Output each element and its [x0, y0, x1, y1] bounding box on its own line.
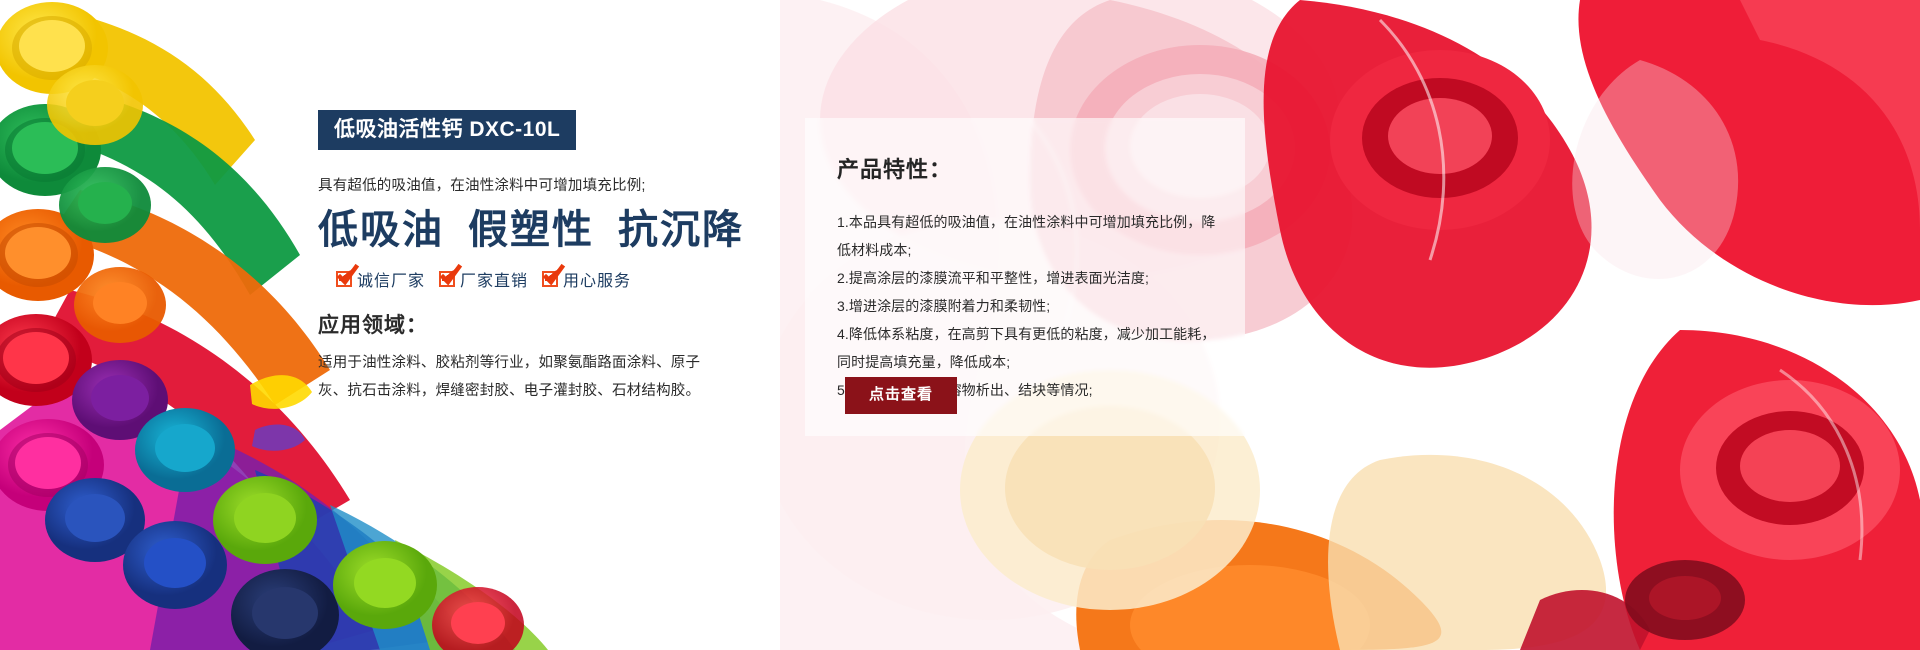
check-box-icon [336, 271, 352, 287]
feature-item: 用心服务 [542, 267, 631, 291]
headline-keywords: 低吸油假塑性抗沉降 [318, 207, 738, 253]
panel-title: 产品特性： [837, 152, 1217, 184]
headline-word-2: 假塑性 [468, 207, 594, 252]
application-section-title: 应用领域： [318, 309, 738, 339]
product-title-badge: 低吸油活性钙 DXC-10L [318, 110, 576, 150]
product-banner: 低吸油活性钙 DXC-10L 具有超低的吸油值，在油性涂料中可增加填充比例; 低… [0, 0, 1920, 650]
check-mark-glyph [335, 265, 359, 287]
product-subtitle: 具有超低的吸油值，在油性涂料中可增加填充比例; [318, 174, 738, 195]
feature-label: 用心服务 [563, 267, 631, 291]
feature-item: 诚信厂家 [336, 267, 425, 291]
panel-inner: 产品特性： 1.本品具有超低的吸油值，在油性涂料中可增加填充比例，降低材料成本;… [805, 118, 1245, 404]
check-box-icon [439, 271, 455, 287]
check-mark-glyph [438, 265, 462, 287]
feature-label: 厂家直销 [460, 267, 528, 291]
list-item: 1.本品具有超低的吸油值，在油性涂料中可增加填充比例，降低材料成本; [837, 208, 1217, 264]
feature-item: 厂家直销 [439, 267, 528, 291]
application-section-body: 适用于油性涂料、胶粘剂等行业，如聚氨酯路面涂料、原子灰、抗石击涂料，焊缝密封胶、… [318, 349, 718, 406]
check-box-icon [542, 271, 558, 287]
characteristics-list: 1.本品具有超低的吸油值，在油性涂料中可增加填充比例，降低材料成本; 2.提高涂… [837, 208, 1217, 404]
headline-word-1: 低吸油 [318, 207, 444, 252]
list-item: 2.提高涂层的漆膜流平和平整性，增进表面光洁度; [837, 264, 1217, 292]
feature-badge-list: 诚信厂家 厂家直销 用心服务 [336, 267, 738, 291]
view-details-button[interactable]: 点击查看 [845, 377, 957, 414]
list-item: 3.增进涂层的漆膜附着力和柔韧性; [837, 292, 1217, 320]
headline-word-3: 抗沉降 [618, 207, 744, 252]
list-item: 4.降低体系粘度，在高剪下具有更低的粘度，减少加工能耗，同时提高填充量，降低成本… [837, 320, 1217, 376]
left-content: 低吸油活性钙 DXC-10L 具有超低的吸油值，在油性涂料中可增加填充比例; 低… [318, 110, 738, 406]
feature-label: 诚信厂家 [357, 267, 425, 291]
check-mark-glyph [541, 265, 565, 287]
